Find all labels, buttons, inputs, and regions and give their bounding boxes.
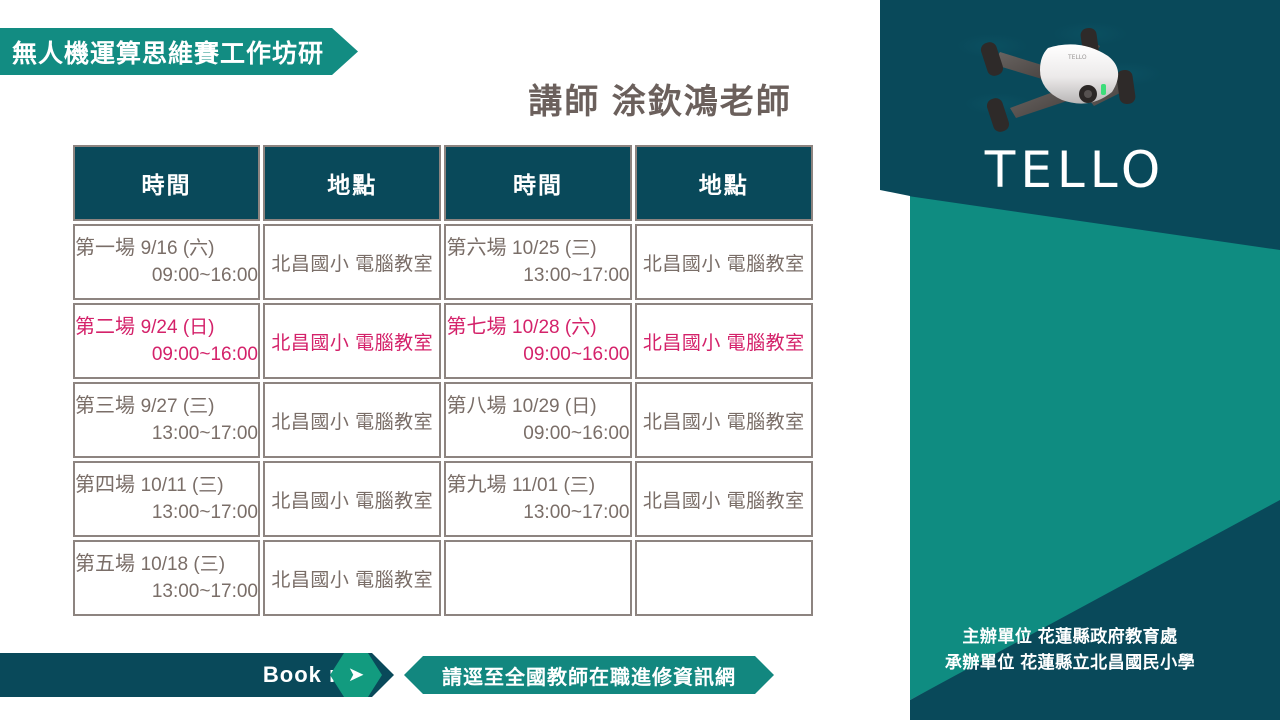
session-date-line: 第五場 10/18 (三): [75, 551, 258, 579]
cell-place-left: 北昌國小 電腦教室: [263, 461, 441, 537]
cell-time-left: 第二場 9/24 (日)09:00~16:00: [73, 303, 260, 379]
ribbon-label: 無人機運算思維賽工作坊研: [12, 34, 324, 70]
registration-notice-label: 請逕至全國教師在職進修資訊網: [442, 661, 736, 690]
column-header-place-left: 地點: [263, 145, 441, 221]
session-number: 第一場: [75, 237, 141, 259]
organizer-credits: 主辦單位 花蓮縣政府教育處 承辦單位 花蓮縣立北昌國民小學: [890, 624, 1250, 677]
session-time: 13:00~17:00: [75, 500, 258, 526]
session-time: 13:00~17:00: [446, 500, 629, 526]
session-number: 第五場: [75, 553, 141, 575]
workshop-ribbon-banner: 無人機運算思維賽工作坊研: [0, 28, 358, 75]
session-date: 9/24 (日): [141, 317, 215, 338]
session-time: 09:00~16:00: [75, 342, 258, 368]
table-body: 第一場 9/16 (六)09:00~16:00北昌國小 電腦教室第六場 10/2…: [73, 224, 813, 616]
session-time: 09:00~16:00: [446, 342, 629, 368]
session-number: 第八場: [446, 395, 512, 417]
session-date-line: 第六場 10/25 (三): [446, 235, 629, 263]
cell-place-left: 北昌國小 電腦教室: [263, 303, 441, 379]
column-header-place-right: 地點: [635, 145, 814, 221]
cell-time-right-empty: [444, 540, 631, 616]
cell-place-left: 北昌國小 電腦教室: [263, 224, 441, 300]
session-date: 9/16 (六): [141, 238, 215, 259]
session-time: 13:00~17:00: [446, 263, 629, 289]
cell-place-right: 北昌國小 電腦教室: [635, 224, 814, 300]
session-number: 第四場: [75, 474, 141, 496]
session-time: 13:00~17:00: [75, 421, 258, 447]
cell-time-left: 第五場 10/18 (三)13:00~17:00: [73, 540, 260, 616]
cell-time-right: 第七場 10/28 (六)09:00~16:00: [444, 303, 631, 379]
column-header-time-left: 時間: [73, 145, 260, 221]
session-date: 9/27 (三): [141, 396, 215, 417]
session-number: 第七場: [446, 316, 512, 338]
table-row: 第二場 9/24 (日)09:00~16:00北昌國小 電腦教室第七場 10/2…: [73, 303, 813, 379]
session-date-line: 第九場 11/01 (三): [446, 472, 629, 500]
session-time: 09:00~16:00: [446, 421, 629, 447]
poster-canvas: TELLO TELLO 主辦單位 花蓮縣政府教育處 承辦單位 花蓮縣立北昌國民小…: [0, 0, 1280, 720]
session-date-line: 第一場 9/16 (六): [75, 235, 258, 263]
table-row: 第三場 9/27 (三)13:00~17:00北昌國小 電腦教室第八場 10/2…: [73, 382, 813, 458]
cell-time-right: 第八場 10/29 (日)09:00~16:00: [444, 382, 631, 458]
organizer-line-1: 主辦單位 花蓮縣政府教育處: [890, 624, 1250, 650]
drone-body-label: TELLO: [1067, 54, 1087, 61]
cell-place-right: 北昌國小 電腦教室: [635, 303, 814, 379]
session-date: 10/18 (三): [141, 554, 225, 575]
session-number: 第三場: [75, 395, 141, 417]
drone-status-led: [1101, 84, 1106, 95]
cell-place-right: 北昌國小 電腦教室: [635, 382, 814, 458]
tello-wordmark: TELLO: [955, 145, 1195, 195]
registration-notice-banner[interactable]: 請逕至全國教師在職進修資訊網: [404, 656, 774, 694]
session-date-line: 第三場 9/27 (三): [75, 393, 258, 421]
table-row: 第四場 10/11 (三)13:00~17:00北昌國小 電腦教室第九場 11/…: [73, 461, 813, 537]
session-date: 11/01 (三): [512, 475, 595, 496]
table-row: 第五場 10/18 (三)13:00~17:00北昌國小 電腦教室: [73, 540, 813, 616]
session-date-line: 第七場 10/28 (六): [446, 314, 629, 342]
table-row: 第一場 9/16 (六)09:00~16:00北昌國小 電腦教室第六場 10/2…: [73, 224, 813, 300]
session-number: 第九場: [446, 474, 512, 496]
cell-time-right: 第九場 11/01 (三)13:00~17:00: [444, 461, 631, 537]
cell-place-right-empty: [635, 540, 814, 616]
cell-place-left: 北昌國小 電腦教室: [263, 382, 441, 458]
session-date-line: 第八場 10/29 (日): [446, 393, 629, 421]
session-date: 10/25 (三): [512, 238, 596, 259]
cell-place-left: 北昌國小 電腦教室: [263, 540, 441, 616]
cell-time-left: 第四場 10/11 (三)13:00~17:00: [73, 461, 260, 537]
page-title: 講師 涂欽鴻老師: [460, 74, 860, 123]
session-time: 13:00~17:00: [75, 579, 258, 605]
session-date-line: 第四場 10/11 (三): [75, 472, 258, 500]
session-time: 09:00~16:00: [75, 263, 258, 289]
session-number: 第六場: [446, 237, 512, 259]
drone-camera-lens: [1084, 90, 1092, 98]
cell-time-left: 第三場 9/27 (三)13:00~17:00: [73, 382, 260, 458]
cell-time-right: 第六場 10/25 (三)13:00~17:00: [444, 224, 631, 300]
cell-place-right: 北昌國小 電腦教室: [635, 461, 814, 537]
session-date: 10/28 (六): [512, 317, 596, 338]
session-number: 第二場: [75, 316, 141, 338]
cell-time-left: 第一場 9/16 (六)09:00~16:00: [73, 224, 260, 300]
schedule-table: 時間 地點 時間 地點 第一場 9/16 (六)09:00~16:00北昌國小 …: [70, 142, 816, 619]
session-date-line: 第二場 9/24 (日): [75, 314, 258, 342]
drone-illustration: TELLO: [940, 12, 1200, 162]
column-header-time-right: 時間: [444, 145, 631, 221]
organizer-line-2: 承辦單位 花蓮縣立北昌國民小學: [890, 650, 1250, 676]
session-date: 10/11 (三): [141, 475, 224, 496]
table-header-row: 時間 地點 時間 地點: [73, 145, 813, 221]
session-date: 10/29 (日): [512, 396, 596, 417]
